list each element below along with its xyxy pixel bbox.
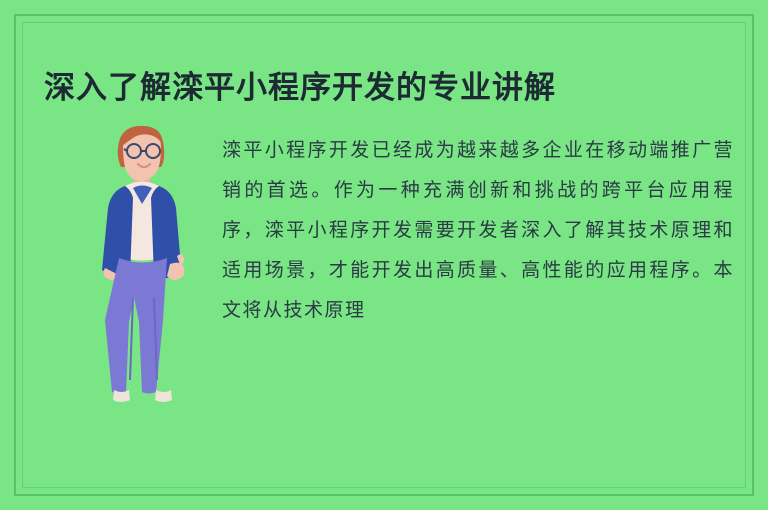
page-title: 深入了解滦平小程序开发的专业讲解	[44, 62, 734, 107]
poster-canvas: 深入了解滦平小程序开发的专业讲解	[0, 0, 768, 510]
body-paragraph: 滦平小程序开发已经成为越来越多企业在移动端推广营销的首选。作为一种充满创新和挑战…	[222, 130, 734, 330]
standing-person-illustration	[78, 118, 208, 418]
